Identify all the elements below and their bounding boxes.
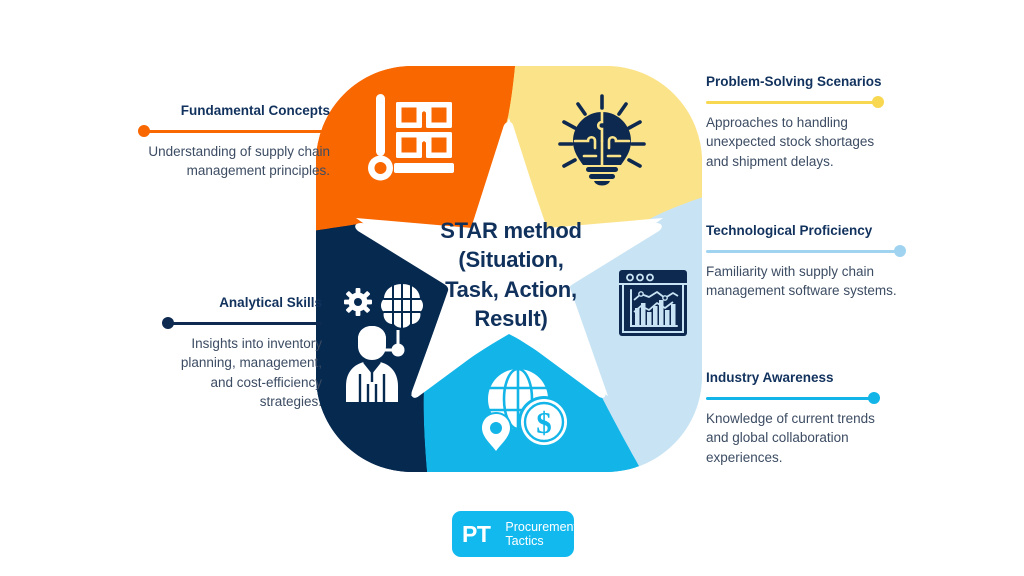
callout-technological-rule (706, 244, 906, 258)
center-label-line2: (Situation, (396, 245, 626, 274)
logo-word-line2: Tactics (505, 534, 543, 548)
logo-wordmark: Procurement Tactics (505, 520, 577, 549)
callout-industry-title: Industry Awareness (706, 370, 880, 386)
center-label: STAR method (Situation, Task, Action, Re… (396, 216, 626, 333)
callout-industry-awareness: Industry Awareness Knowledge of current … (706, 370, 880, 467)
center-label-line3: Task, Action, (396, 275, 626, 304)
callout-industry-rule (706, 391, 880, 405)
callout-fundamental-concepts: Fundamental Concepts Understanding of su… (138, 103, 330, 181)
callout-analytical-rule (162, 316, 322, 330)
logo-monogram: PT (462, 521, 490, 548)
callout-analytical-bar (168, 322, 322, 325)
center-label-line1: STAR method (396, 216, 626, 245)
callout-industry-body: Knowledge of current trends and global c… (706, 409, 880, 466)
callout-problem-solving-scenarios: Problem-Solving Scenarios Approaches to … (706, 74, 884, 171)
callout-technological-title: Technological Proficiency (706, 223, 906, 239)
svg-text:$: $ (536, 405, 552, 440)
browser-analytics-chart-icon (619, 270, 687, 336)
callout-problem-title: Problem-Solving Scenarios (706, 74, 884, 90)
callout-analytical-title: Analytical Skills (162, 295, 322, 311)
callout-problem-body: Approaches to handling unexpected stock … (706, 113, 884, 170)
callout-analytical-body: Insights into inventory planning, manage… (162, 334, 322, 411)
callout-fundamental-rule (138, 124, 330, 138)
hand-truck-boxes-icon (368, 94, 454, 181)
callout-problem-rule (706, 95, 884, 109)
callout-technological-body: Familiarity with supply chain management… (706, 262, 906, 300)
center-label-line4: Result) (396, 304, 626, 333)
callout-fundamental-body: Understanding of supply chain management… (138, 142, 330, 180)
callout-technological-proficiency: Technological Proficiency Familiarity wi… (706, 223, 906, 301)
callout-problem-bar (706, 101, 878, 104)
callout-technological-bar (706, 250, 900, 253)
callout-industry-bar (706, 397, 874, 400)
procurement-tactics-logo: PT Procurement Tactics (452, 511, 574, 557)
callout-analytical-skills: Analytical Skills Insights into inventor… (162, 295, 322, 411)
logo-word-line1: Procurement (505, 520, 577, 534)
callout-fundamental-title: Fundamental Concepts (138, 103, 330, 119)
callout-fundamental-bar (144, 130, 330, 133)
